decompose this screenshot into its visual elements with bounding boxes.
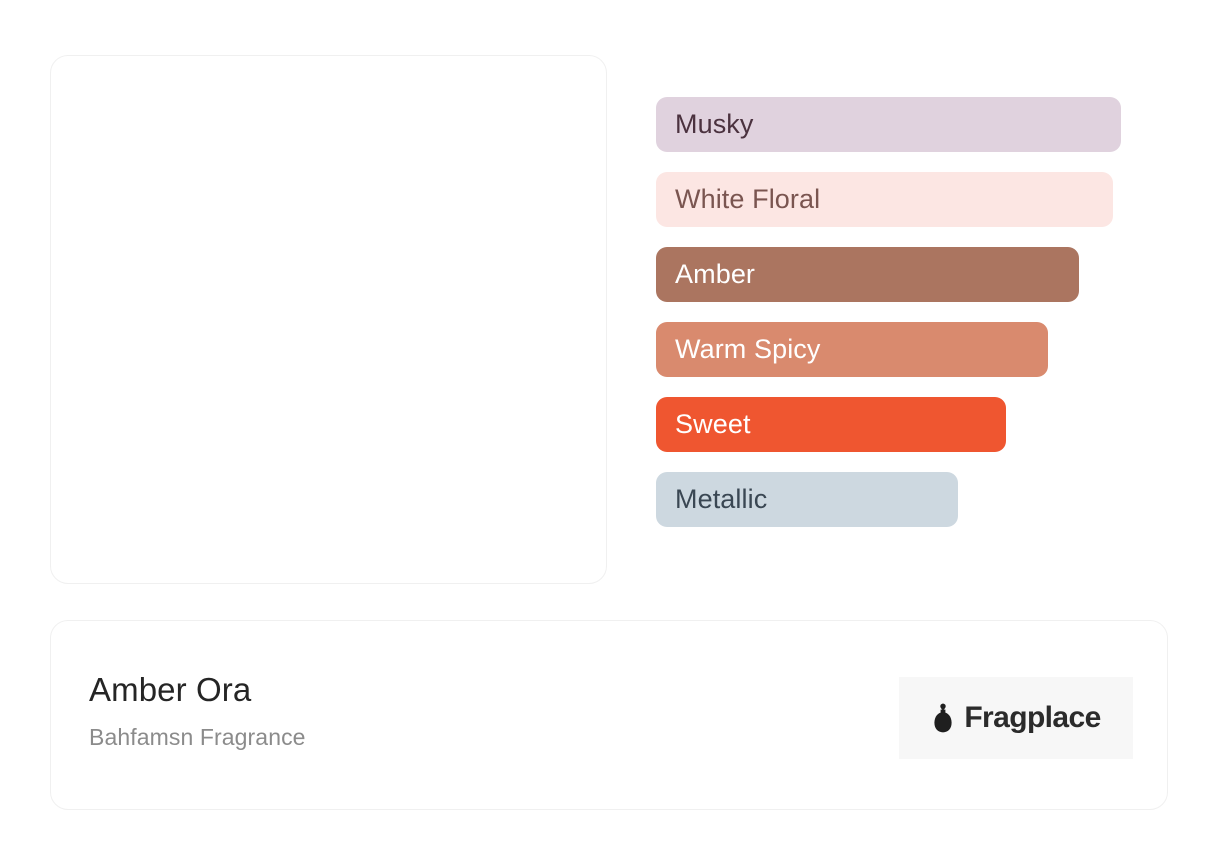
accord-row: Sweet <box>656 397 1156 452</box>
fragrance-detail-page: Musky White Floral Amber Warm Spicy Swee… <box>0 0 1218 864</box>
accord-label: Musky <box>675 111 754 138</box>
accord-row: Amber <box>656 247 1156 302</box>
accord-row: Warm Spicy <box>656 322 1156 377</box>
fragplace-logo[interactable]: Fragplace <box>899 677 1133 759</box>
main-accords-chart: Musky White Floral Amber Warm Spicy Swee… <box>656 97 1156 547</box>
fragrance-image-placeholder <box>50 55 607 584</box>
perfume-bottle-heart-icon <box>931 703 955 733</box>
accord-bar-sweet[interactable]: Sweet <box>656 397 1006 452</box>
fragrance-titles: Amber Ora Bahfamsn Fragrance <box>89 671 306 751</box>
accord-row: Metallic <box>656 472 1156 527</box>
accord-label: Sweet <box>675 411 751 438</box>
accord-row: White Floral <box>656 172 1156 227</box>
accord-bar-musky[interactable]: Musky <box>656 97 1121 152</box>
accord-bar-metallic[interactable]: Metallic <box>656 472 958 527</box>
accord-bar-amber[interactable]: Amber <box>656 247 1079 302</box>
accord-label: Amber <box>675 261 755 288</box>
page-title: Amber Ora <box>89 671 306 709</box>
accord-row: Musky <box>656 97 1156 152</box>
brand-name: Bahfamsn Fragrance <box>89 724 306 751</box>
accord-label: Metallic <box>675 486 767 513</box>
logo-text: Fragplace <box>964 703 1100 733</box>
accord-bar-white-floral[interactable]: White Floral <box>656 172 1113 227</box>
accord-label: Warm Spicy <box>675 336 821 363</box>
accord-label: White Floral <box>675 186 820 213</box>
accord-bar-warm-spicy[interactable]: Warm Spicy <box>656 322 1048 377</box>
fragrance-info-card: Amber Ora Bahfamsn Fragrance Fragplace <box>50 620 1168 810</box>
